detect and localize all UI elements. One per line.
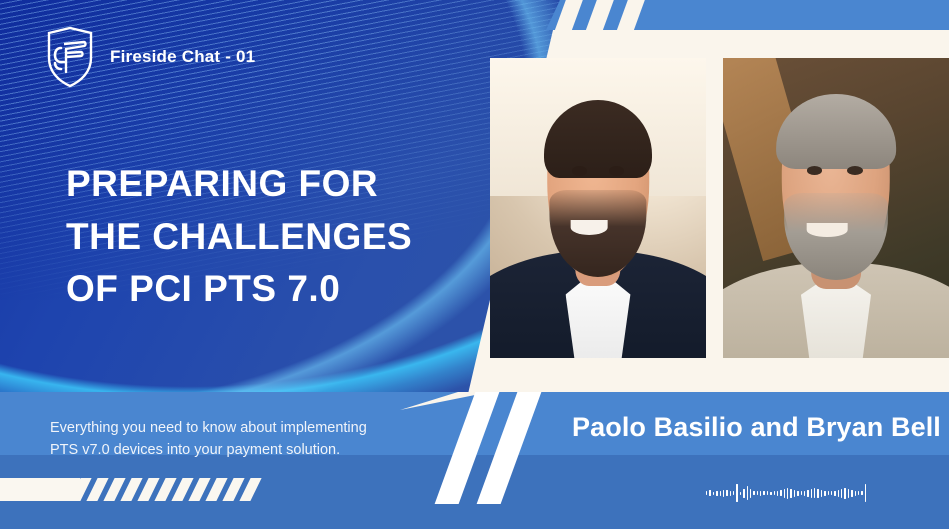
photo-left-eye: [609, 166, 624, 176]
waveform-bar: [713, 492, 714, 495]
waveform-bar: [736, 484, 737, 502]
speaker-names: Paolo Basilio and Bryan Bell: [572, 412, 941, 443]
waveform-bar: [804, 491, 805, 496]
waveform-bar: [811, 489, 812, 498]
waveform-bar: [834, 491, 835, 496]
waveform-bar: [844, 488, 845, 499]
waveform-bar: [747, 486, 748, 500]
headline-line-1: PREPARING FOR: [66, 158, 496, 211]
waveform-bar: [858, 491, 859, 495]
waveform-bar: [848, 489, 849, 498]
waveform-bar: [743, 489, 744, 498]
waveform-bar: [851, 490, 852, 497]
waveform-bar: [797, 491, 798, 496]
shield-cf-monogram-icon: [44, 26, 96, 88]
photo-left-smile: [571, 220, 608, 235]
brand-lockup: Fireside Chat - 01: [44, 26, 255, 88]
headline-line-3: OF PCI PTS 7.0: [66, 263, 496, 316]
waveform-bar: [706, 491, 707, 495]
subtitle: Everything you need to know about implem…: [50, 418, 450, 462]
waveform-bar: [828, 491, 829, 495]
subtitle-line-2: PTS v7.0 devices into your payment solut…: [50, 440, 450, 462]
waveform-bar: [790, 489, 791, 498]
photo-right-smile: [807, 223, 848, 237]
waveform-bar: [720, 491, 721, 496]
waveform-bar: [801, 491, 802, 495]
waveform-bar: [750, 489, 751, 498]
photo-left-eye: [572, 166, 587, 176]
waveform-bar: [855, 491, 856, 496]
audio-waveform-icon: [706, 478, 866, 508]
waveform-bar: [740, 492, 741, 495]
photo-right-eye: [847, 166, 863, 175]
waveform-bar: [726, 490, 727, 496]
waveform-bar: [794, 490, 795, 497]
subtitle-line-1: Everything you need to know about implem…: [50, 418, 450, 440]
waveform-bar: [817, 489, 818, 498]
waveform-bar: [824, 491, 825, 496]
waveform-bar: [838, 490, 839, 497]
waveform-bar: [861, 491, 862, 495]
waveform-bar: [821, 490, 822, 497]
waveform-bar: [757, 491, 758, 495]
waveform-bar: [733, 491, 734, 495]
waveform-bar: [841, 489, 842, 498]
waveform-bar: [784, 489, 785, 498]
waveform-bar: [763, 491, 764, 495]
waveform-bar: [760, 491, 761, 496]
waveform-bar: [730, 491, 731, 496]
footer-white-bar: [0, 478, 80, 501]
waveform-bar: [753, 491, 754, 495]
speaker-photo-right: [723, 58, 949, 358]
waveform-bar: [780, 490, 781, 496]
waveform-bar: [770, 492, 771, 495]
waveform-bar: [787, 488, 788, 499]
waveform-bar: [716, 491, 717, 496]
waveform-bar: [865, 484, 866, 502]
waveform-bar: [807, 490, 808, 497]
speaker-photo-left: [490, 58, 706, 358]
waveform-bar: [723, 490, 724, 497]
waveform-bar: [777, 491, 778, 496]
fireside-chat-promo-slide: Fireside Chat - 01 PREPARING FOR THE CHA…: [0, 0, 949, 529]
waveform-bar: [709, 490, 710, 496]
headline-line-2: THE CHALLENGES: [66, 211, 496, 264]
waveform-bar: [814, 488, 815, 498]
footer-stripe-group: [75, 478, 265, 501]
waveform-bar: [774, 491, 775, 495]
waveform-bar: [831, 491, 832, 495]
page-title: PREPARING FOR THE CHALLENGES OF PCI PTS …: [66, 158, 496, 316]
kicker-label: Fireside Chat - 01: [110, 47, 255, 67]
waveform-bar: [767, 491, 768, 495]
